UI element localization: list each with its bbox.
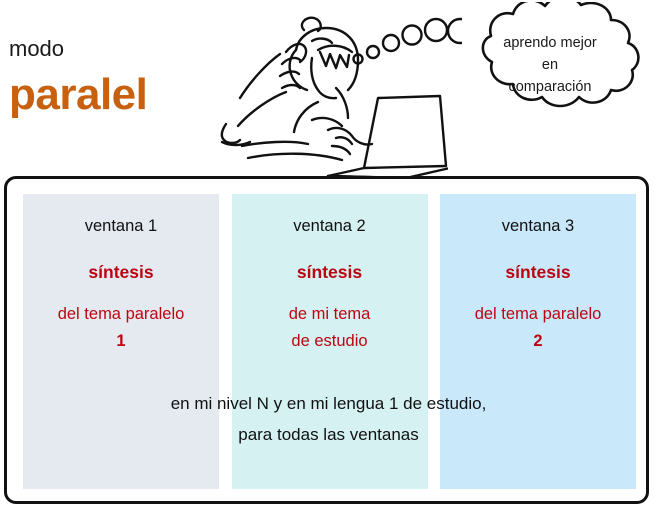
mode-value: paralel xyxy=(9,70,147,120)
window-column-2-heading: síntesis xyxy=(232,261,428,283)
window-column-2-body: de mi tema de estudio xyxy=(232,301,428,355)
bubble-line-3: comparación xyxy=(462,76,638,98)
window-column-1-body-line-2: 1 xyxy=(23,328,219,355)
window-column-1-body-line-1: del tema paralelo xyxy=(23,301,219,328)
header-area: modo paralel xyxy=(0,0,657,177)
windows-panel: ventana 1 síntesis del tema paralelo 1 v… xyxy=(4,176,649,504)
bubble-line-1: aprendo mejor xyxy=(462,32,638,54)
window-column-1-heading: síntesis xyxy=(23,261,219,283)
bubble-line-2: en xyxy=(462,54,638,76)
window-column-2[interactable]: ventana 2 síntesis de mi tema de estudio xyxy=(232,194,428,489)
window-column-1-title: ventana 1 xyxy=(23,216,219,236)
window-column-2-body-line-2: de estudio xyxy=(232,328,428,355)
window-column-3-title: ventana 3 xyxy=(440,216,636,236)
window-column-3-body-line-1: del tema paralelo xyxy=(440,301,636,328)
window-column-2-body-line-1: de mi tema xyxy=(232,301,428,328)
thought-bubble-text: aprendo mejor en comparación xyxy=(462,32,638,98)
mode-label: modo xyxy=(9,36,64,62)
window-column-1[interactable]: ventana 1 síntesis del tema paralelo 1 xyxy=(23,194,219,489)
window-column-3-body: del tema paralelo 2 xyxy=(440,301,636,355)
window-column-1-body: del tema paralelo 1 xyxy=(23,301,219,355)
windows-columns-row: ventana 1 síntesis del tema paralelo 1 v… xyxy=(23,194,636,489)
window-column-2-title: ventana 2 xyxy=(232,216,428,236)
window-column-3-body-line-2: 2 xyxy=(440,328,636,355)
window-column-3[interactable]: ventana 3 síntesis del tema paralelo 2 xyxy=(440,194,636,489)
window-column-3-heading: síntesis xyxy=(440,261,636,283)
